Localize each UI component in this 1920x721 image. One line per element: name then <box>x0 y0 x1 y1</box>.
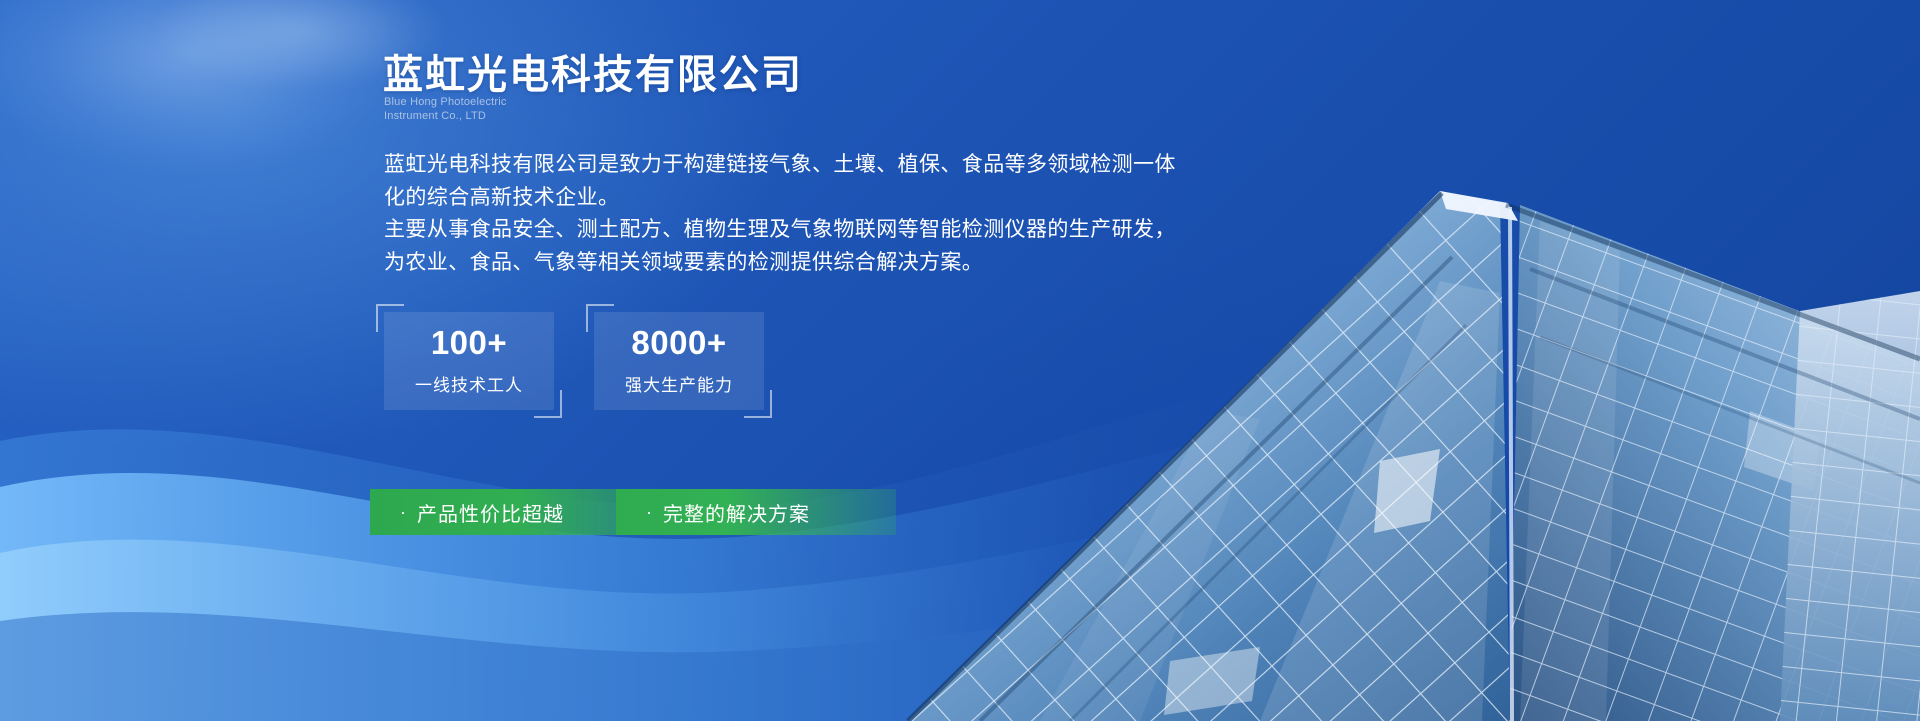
feature-tag-label: 产品性价比超越 <box>417 498 564 527</box>
feature-tags-group: · 产品性价比超越 · 完整的解决方案 <box>370 489 896 535</box>
subtitle-line-1: Blue Hong Photoelectric <box>384 95 507 109</box>
description-paragraph-2: 主要从事食品安全、测土配方、植物生理及气象物联网等智能检测仪器的生产研发，为农业… <box>384 213 1184 279</box>
description-paragraph-1: 蓝虹光电科技有限公司是致力于构建链接气象、土壤、植保、食品等多领域检测一体化的综… <box>384 148 1184 214</box>
banner-content: 蓝虹光电科技有限公司 Blue Hong Photoelectric Instr… <box>0 0 1920 721</box>
hero-banner: 蓝虹光电科技有限公司 Blue Hong Photoelectric Instr… <box>0 0 1920 721</box>
stat-label: 强大生产能力 <box>625 371 733 396</box>
feature-tag: · 产品性价比超越 <box>370 489 638 535</box>
feature-tag-label: 完整的解决方案 <box>663 498 810 527</box>
stat-number: 8000+ <box>631 326 726 359</box>
subtitle-line-2: Instrument Co., LTD <box>384 109 507 123</box>
company-subtitle: Blue Hong Photoelectric Instrument Co., … <box>384 95 507 123</box>
stat-number: 100+ <box>431 326 507 359</box>
page-title: 蓝虹光电科技有限公司 <box>383 42 803 100</box>
stats-group: 100+ 一线技术工人 8000+ 强大生产能力 <box>384 312 764 410</box>
bullet-icon: · <box>646 503 653 521</box>
stat-card: 8000+ 强大生产能力 <box>594 312 764 410</box>
stat-card: 100+ 一线技术工人 <box>384 312 554 410</box>
stat-label: 一线技术工人 <box>415 371 523 396</box>
feature-tag: · 完整的解决方案 <box>616 489 896 535</box>
bullet-icon: · <box>400 503 407 521</box>
